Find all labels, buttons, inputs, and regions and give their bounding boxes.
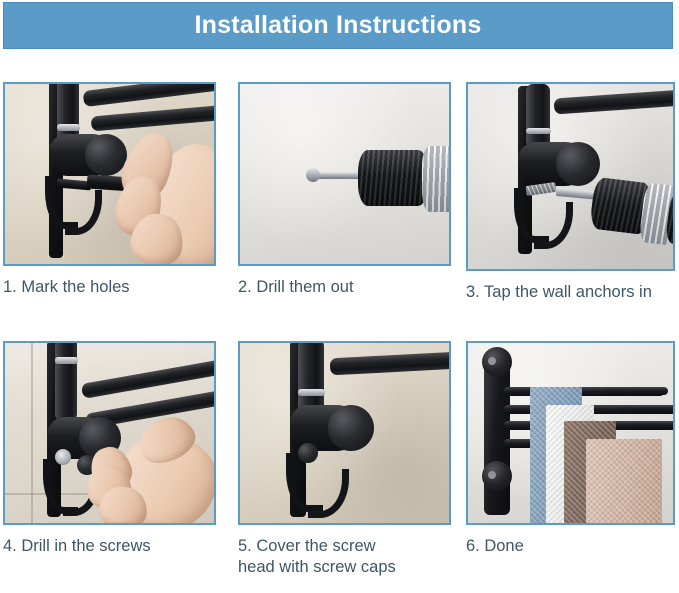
- step-caption-6: 6. Done: [466, 536, 675, 557]
- step-card-3: 3. Tap the wall anchors in: [466, 82, 675, 303]
- step-photo-6: [466, 341, 675, 525]
- step-caption-3: 3. Tap the wall anchors in: [466, 282, 675, 303]
- step-caption-2: 2. Drill them out: [238, 277, 451, 298]
- step-photo-1: [3, 82, 216, 266]
- steps-grid: 1. Mark the holes 2. Drill them out: [0, 82, 679, 591]
- step-card-6: 6. Done: [466, 341, 675, 557]
- step-card-2: 2. Drill them out: [238, 82, 451, 298]
- step-card-5: 5. Cover the screw head with screw caps: [238, 341, 451, 578]
- step-photo-4: [3, 341, 216, 525]
- step-photo-5: [238, 341, 451, 525]
- step-card-4: 4. Drill in the screws: [3, 341, 216, 557]
- steps-row-1: 1. Mark the holes 2. Drill them out: [0, 82, 679, 341]
- step-caption-5: 5. Cover the screw head with screw caps: [238, 536, 451, 578]
- steps-row-2: 4. Drill in the screws: [0, 341, 679, 591]
- step-caption-1: 1. Mark the holes: [3, 277, 216, 298]
- step-photo-3: [466, 82, 675, 271]
- header-banner: Installation Instructions: [3, 2, 673, 49]
- page-title: Installation Instructions: [195, 13, 482, 38]
- step-caption-4: 4. Drill in the screws: [3, 536, 216, 557]
- instruction-poster: Installation Instructions: [0, 0, 679, 593]
- step-photo-2: [238, 82, 451, 266]
- step-card-1: 1. Mark the holes: [3, 82, 216, 298]
